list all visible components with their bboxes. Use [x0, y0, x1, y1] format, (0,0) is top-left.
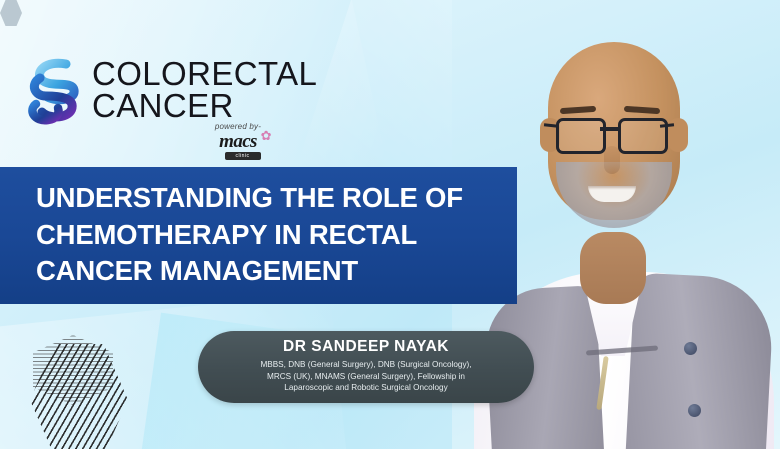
brand-line-1: COLORECTAL [92, 58, 317, 90]
brand-wordmark: COLORECTAL CANCER [92, 58, 317, 122]
partner-sub-label: clinic [225, 152, 261, 160]
speaker-badge-content: DR SANDEEP NAYAK MBBS, DNB (General Surg… [198, 331, 534, 394]
brand-lockup: COLORECTAL CANCER [26, 58, 317, 126]
vest-button-lower [688, 404, 701, 417]
brand-line-2: CANCER [92, 90, 317, 122]
powered-by-block: powered by- macs ✿ clinic [196, 122, 280, 162]
colorectal-ribbon-icon [26, 58, 82, 126]
small-hexagon-icon-bottom-left [0, 0, 22, 26]
partner-logo: macs ✿ clinic [216, 132, 261, 160]
vest-button-upper [684, 342, 697, 355]
eyeglasses-lens-left-icon [556, 118, 606, 154]
title-line-3: CANCER MANAGEMENT [36, 253, 506, 290]
credential-line: MBBS, DNB (General Surgery), DNB (Surgic… [226, 359, 506, 371]
title-band: UNDERSTANDING THE ROLE OF CHEMOTHERAPY I… [0, 167, 517, 304]
eyeglasses-bridge-icon [600, 127, 618, 131]
promo-banner: COLORECTAL CANCER powered by- macs ✿ cli… [0, 0, 780, 449]
credential-line: MRCS (UK), MNAMS (General Surgery), Fell… [226, 371, 506, 383]
partner-name: macs [219, 131, 257, 152]
neck [580, 232, 646, 304]
speaker-name: DR SANDEEP NAYAK [226, 338, 506, 355]
speaker-credentials: MBBS, DNB (General Surgery), DNB (Surgic… [226, 359, 506, 394]
title-line-1: UNDERSTANDING THE ROLE OF [36, 180, 506, 217]
credential-line: Laparoscopic and Robotic Surgical Oncolo… [226, 382, 506, 394]
leaf-icon: ✿ [261, 129, 272, 142]
vest-right-panel [625, 272, 775, 449]
title-line-2: CHEMOTHERAPY IN RECTAL [36, 217, 506, 254]
eyeglasses-lens-right-icon [618, 118, 668, 154]
page-title: UNDERSTANDING THE ROLE OF CHEMOTHERAPY I… [36, 180, 506, 290]
speaker-name-badge: DR SANDEEP NAYAK MBBS, DNB (General Surg… [198, 331, 534, 403]
